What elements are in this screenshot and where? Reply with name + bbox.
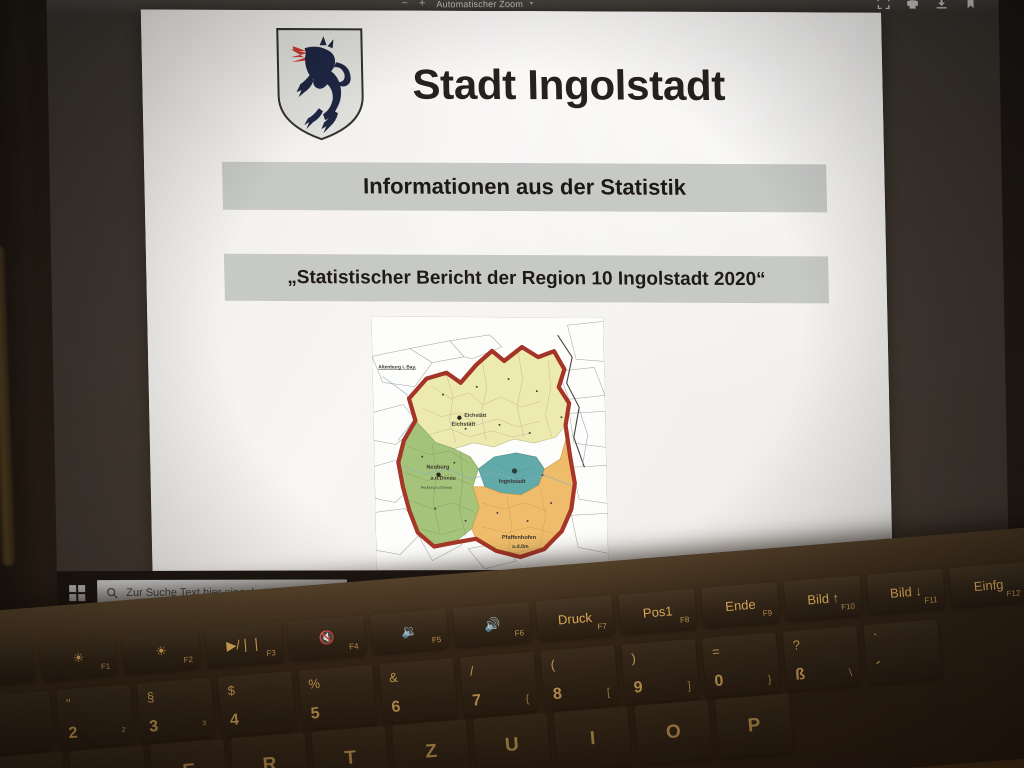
key-bild-up-f10[interactable]: Bild ↑ F10	[784, 575, 863, 620]
download-icon[interactable]	[935, 0, 947, 8]
key-t[interactable]: T	[311, 726, 389, 768]
start-button[interactable]	[57, 585, 97, 601]
key-p[interactable]: P	[715, 693, 793, 758]
key-9[interactable]: ) 9 ]	[621, 639, 699, 704]
key-f5[interactable]: 🔉 F5	[370, 609, 449, 654]
banner-bericht: „Statistischer Bericht der Region 10 Ing…	[224, 254, 829, 304]
svg-text:a.d.Ilm: a.d.Ilm	[512, 544, 529, 550]
svg-text:Eichstätt: Eichstätt	[464, 413, 486, 419]
svg-text:Ingolstadt: Ingolstadt	[499, 479, 526, 485]
coat-of-arms-icon	[273, 26, 367, 142]
zoom-level-select[interactable]: Automatischer Zoom ▾	[436, 0, 533, 9]
key-o[interactable]: O	[634, 700, 712, 765]
svg-text:a.d.Donau: a.d.Donau	[431, 476, 456, 482]
chevron-down-icon: ▾	[530, 0, 533, 7]
key-z[interactable]: Z	[392, 719, 470, 768]
zoom-in-button[interactable]: +	[419, 0, 426, 9]
pdf-page: Stadt Ingolstadt Informationen aus der S…	[141, 9, 893, 578]
key-einfg-f12[interactable]: Einfg F12	[949, 562, 1024, 607]
bookmark-icon[interactable]	[964, 0, 976, 8]
key-u[interactable]: U	[473, 713, 551, 768]
region-map: Eichstätt Eichstätt Neuburg a.d.Donau Ne…	[371, 316, 608, 571]
document-header: Stadt Ingolstadt	[141, 25, 884, 144]
key-1[interactable]: ! 1	[0, 691, 54, 756]
zoom-out-button[interactable]: −	[401, 0, 408, 9]
key-pos1-f8[interactable]: Pos1 F8	[618, 589, 697, 634]
pdf-viewer-body[interactable]: Stadt Ingolstadt Informationen aus der S…	[47, 12, 1010, 615]
key-f6[interactable]: 🔊 F6	[453, 602, 532, 647]
windows-logo-icon	[69, 585, 85, 601]
key-3[interactable]: § 3 ³	[137, 678, 215, 743]
svg-text:Pfaffenhofen: Pfaffenhofen	[502, 535, 537, 541]
pdf-page-surface: Stadt Ingolstadt Informationen aus der S…	[141, 9, 893, 578]
zoom-level-value: Automatischer Zoom	[436, 0, 523, 9]
laptop-photo-scene: − + Automatischer Zoom ▾	[0, 0, 1024, 768]
key-0[interactable]: = 0 }	[702, 632, 780, 697]
svg-text:Altenburg i. Bay.: Altenburg i. Bay.	[378, 364, 416, 370]
key-esc[interactable]: Esc	[0, 642, 35, 686]
key-sz[interactable]: ? ß \	[783, 626, 861, 691]
key-bild-down-f11[interactable]: Bild ↓ F11	[866, 569, 945, 614]
key-f3[interactable]: ▶/❘❘ F3	[205, 622, 284, 667]
key-4[interactable]: $ 4	[218, 671, 296, 736]
key-i[interactable]: I	[553, 706, 631, 768]
presentation-mode-icon[interactable]	[877, 0, 889, 9]
svg-text:Neuburg: Neuburg	[426, 465, 450, 471]
key-ende-f9[interactable]: Ende F9	[701, 582, 780, 627]
key-6[interactable]: & 6	[379, 658, 457, 723]
banner-informationen: Informationen aus der Statistik	[222, 162, 827, 213]
laptop-screen: − + Automatischer Zoom ▾	[46, 0, 1009, 615]
page-title: Stadt Ingolstadt	[412, 61, 726, 110]
svg-text:Neuburg a.d.Donau: Neuburg a.d.Donau	[421, 486, 452, 490]
key-7[interactable]: / 7 {	[460, 652, 538, 717]
key-5[interactable]: % 5	[298, 665, 376, 730]
key-f1[interactable]: ☀ F1	[39, 635, 118, 680]
key-f4[interactable]: 🔇 F4	[287, 615, 366, 660]
key-2[interactable]: " 2 ²	[56, 684, 134, 749]
key-acute[interactable]: ` ´	[863, 619, 941, 684]
key-druck-f7[interactable]: Druck F7	[535, 595, 614, 640]
print-icon[interactable]	[906, 0, 918, 9]
svg-text:Eichstätt: Eichstätt	[451, 422, 475, 428]
key-e[interactable]: E	[150, 739, 228, 768]
key-f2[interactable]: ☀ F2	[122, 628, 201, 673]
search-icon	[106, 587, 118, 599]
key-r[interactable]: R	[230, 732, 308, 768]
key-8[interactable]: ( 8 [	[540, 645, 618, 710]
